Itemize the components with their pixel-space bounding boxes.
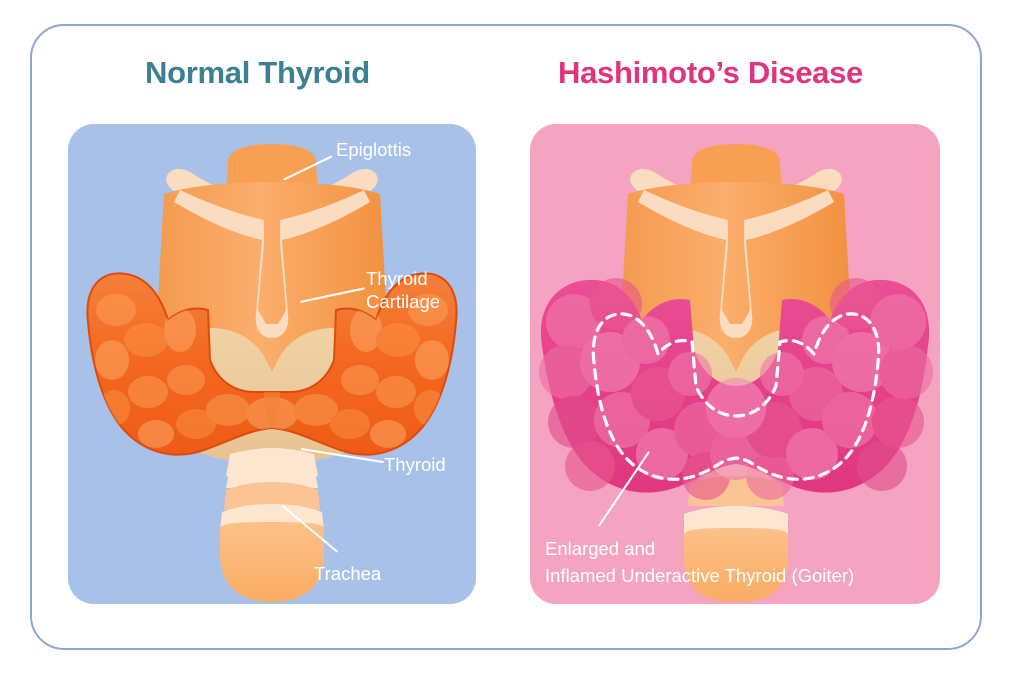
trachea (220, 460, 324, 602)
panel-normal-thyroid (68, 124, 476, 604)
label-epiglottis: Epiglottis (336, 138, 411, 161)
label-trachea: Trachea (314, 562, 381, 585)
label-thyroid: Thyroid (384, 453, 446, 476)
hashimoto-thyroid-artwork (530, 124, 940, 604)
label-goiter: Enlarged and Inflamed Underactive Thyroi… (545, 535, 854, 589)
illustration-stage: Normal Thyroid Hashimoto’s Disease (0, 0, 1024, 683)
label-thyroid-cartilage: Thyroid Cartilage (366, 267, 440, 313)
panel-title-hashimoto: Hashimoto’s Disease (558, 55, 863, 91)
panel-title-normal: Normal Thyroid (145, 55, 370, 91)
panel-hashimoto-disease (530, 124, 940, 604)
normal-thyroid-artwork (68, 124, 476, 604)
